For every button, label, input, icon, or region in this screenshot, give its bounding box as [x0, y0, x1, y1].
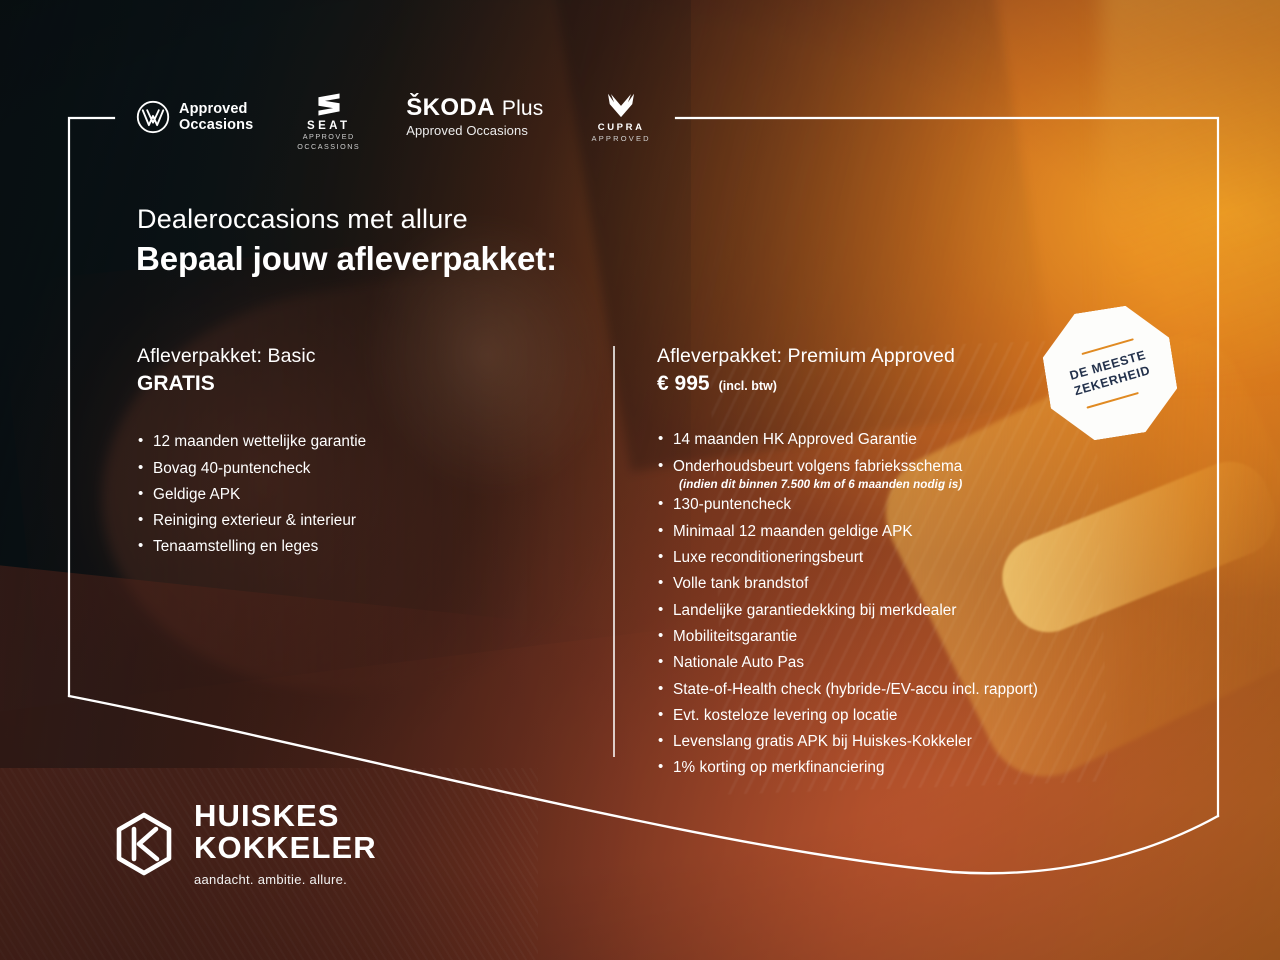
feature-text: Volle tank brandstof — [673, 575, 808, 592]
package-premium-vat-note: (incl. btw) — [719, 378, 777, 394]
feature-text: Mobiliteitsgarantie — [673, 628, 797, 645]
list-item: Onderhoudsbeurt volgens fabrieksschema (… — [657, 454, 1177, 493]
list-item: State-of-Health check (hybride-/EV-accu … — [657, 677, 1177, 703]
list-item: Volle tank brandstof — [657, 571, 1177, 597]
feature-text: 12 maanden wettelijke garantie — [153, 433, 366, 450]
list-item: Tenaamstelling en leges — [137, 534, 577, 560]
feature-text: Levenslang gratis APK bij Huiskes-Kokkel… — [673, 733, 972, 750]
feature-text: Tenaamstelling en leges — [153, 538, 318, 555]
feature-text: 1% korting op merkfinanciering — [673, 759, 885, 776]
seat-sub-line1: APPROVED — [297, 132, 360, 142]
kicker-text: Dealeroccasions met allure — [137, 204, 468, 235]
company-logo: HUISKES KOKKELER aandacht. ambitie. allu… — [112, 800, 377, 887]
list-item: Nationale Auto Pas — [657, 650, 1177, 676]
feature-text: Nationale Auto Pas — [673, 654, 804, 671]
vw-logo-line2: Occasions — [179, 117, 253, 133]
status-badge: DE MEESTE ZEKERHEID — [1037, 300, 1183, 446]
list-item: 1% korting op merkfinanciering — [657, 755, 1177, 781]
feature-text: Luxe reconditioneringsbeurt — [673, 549, 863, 566]
company-tagline: aandacht. ambitie. allure. — [194, 872, 377, 887]
list-item: Levenslang gratis APK bij Huiskes-Kokkel… — [657, 729, 1177, 755]
skoda-wordmark: ŠKODA — [406, 94, 495, 122]
cupra-sub-label: APPROVED — [592, 134, 651, 143]
feature-text: Landelijke garantiedekking bij merkdeale… — [673, 602, 957, 619]
list-item: Bovag 40-puntencheck — [137, 456, 577, 482]
company-name-line2: KOKKELER — [194, 832, 377, 864]
list-item: Minimaal 12 maanden geldige APK — [657, 519, 1177, 545]
list-item: Evt. kosteloze levering op locatie — [657, 703, 1177, 729]
list-item: Landelijke garantiedekking bij merkdeale… — [657, 598, 1177, 624]
list-item: 12 maanden wettelijke garantie — [137, 429, 577, 455]
promo-banner: Approved Occasions SEAT APPROVED OCCASSI… — [0, 0, 1280, 960]
package-basic: Afleverpakket: Basic GRATIS 12 maanden w… — [137, 344, 577, 561]
cupra-approved-logo: CUPRA APPROVED — [592, 92, 651, 143]
page-title: Bepaal jouw afleverpakket: — [136, 240, 557, 278]
company-name-line1: HUISKES — [194, 800, 377, 832]
feature-text: Onderhoudsbeurt volgens fabrieksschema — [673, 458, 962, 475]
list-item: 130-puntencheck — [657, 492, 1177, 518]
feature-text: State-of-Health check (hybride-/EV-accu … — [673, 681, 1038, 698]
cupra-logo-icon — [606, 92, 636, 118]
cupra-wordmark: CUPRA — [598, 122, 645, 133]
seat-wordmark: SEAT — [307, 120, 350, 132]
list-item: Geldige APK — [137, 482, 577, 508]
list-item: Reiniging exterieur & interieur — [137, 508, 577, 534]
skoda-plus-approved-occasions-logo: ŠKODA Plus Approved Occasions — [406, 94, 543, 138]
package-premium-price: € 995 — [657, 370, 710, 397]
feature-text: 130-puntencheck — [673, 496, 791, 513]
package-basic-feature-list: 12 maanden wettelijke garantie Bovag 40-… — [137, 429, 577, 560]
list-item: Mobiliteitsgarantie — [657, 624, 1177, 650]
vw-logo-icon — [136, 100, 170, 134]
seat-approved-occassions-logo: SEAT APPROVED OCCASSIONS — [297, 92, 360, 153]
huiskes-kokkeler-monogram-icon — [112, 812, 176, 876]
package-basic-price: GRATIS — [137, 370, 215, 397]
feature-text: Evt. kosteloze levering op locatie — [673, 707, 897, 724]
vw-approved-occasions-logo: Approved Occasions — [136, 100, 253, 134]
seat-logo-icon — [316, 92, 342, 117]
brand-logo-row: Approved Occasions SEAT APPROVED OCCASSI… — [136, 90, 651, 156]
vw-logo-line1: Approved — [179, 101, 253, 117]
package-premium-feature-list: 14 maanden HK Approved Garantie Onderhou… — [657, 427, 1177, 782]
feature-text: Geldige APK — [153, 486, 240, 503]
seat-sub-line2: OCCASSIONS — [297, 142, 360, 152]
package-basic-title: Afleverpakket: Basic — [137, 344, 577, 369]
feature-text: Reiniging exterieur & interieur — [153, 512, 356, 529]
skoda-sub-label: Approved Occasions — [406, 123, 528, 138]
feature-subnote: (indien dit binnen 7.500 km of 6 maanden… — [673, 477, 1177, 493]
feature-text: Bovag 40-puntencheck — [153, 460, 310, 477]
list-item: Luxe reconditioneringsbeurt — [657, 545, 1177, 571]
feature-text: 14 maanden HK Approved Garantie — [673, 431, 917, 448]
skoda-plus-label: Plus — [502, 97, 544, 121]
feature-text: Minimaal 12 maanden geldige APK — [673, 523, 913, 540]
